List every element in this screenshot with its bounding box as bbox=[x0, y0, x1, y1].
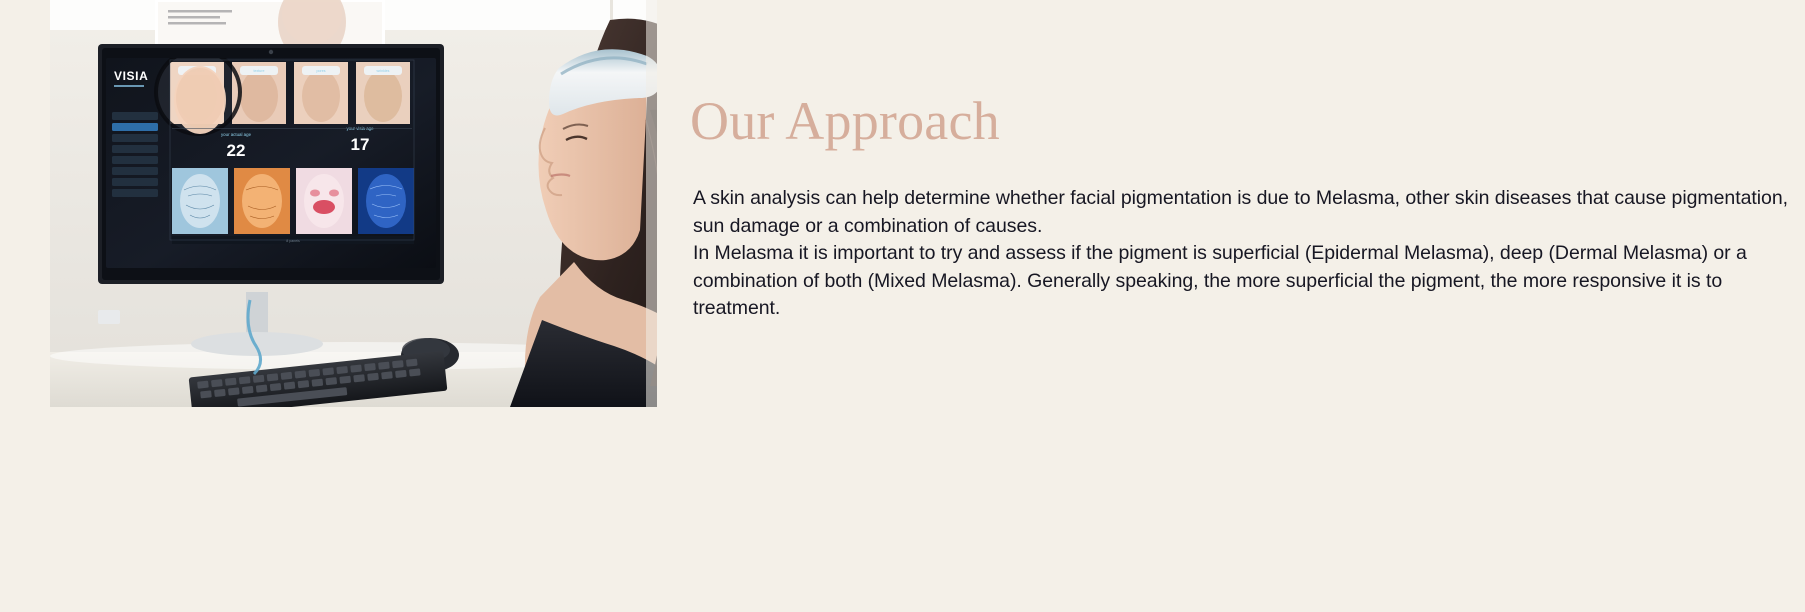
page-root: VISIA face fr bbox=[0, 0, 1805, 612]
svg-text:VISIA: VISIA bbox=[114, 69, 148, 83]
svg-text:22: 22 bbox=[227, 141, 246, 160]
svg-text:8 panels: 8 panels bbox=[286, 239, 300, 243]
approach-paragraph-1: A skin analysis can help determine wheth… bbox=[693, 185, 1793, 240]
svg-text:your actual age: your actual age bbox=[221, 132, 252, 137]
approach-text-column: Our Approach A skin analysis can help de… bbox=[690, 0, 1800, 612]
approach-paragraph-2: In Melasma it is important to try and as… bbox=[693, 240, 1793, 323]
approach-photo: VISIA face fr bbox=[50, 0, 657, 407]
svg-text:17: 17 bbox=[351, 135, 370, 154]
approach-body-copy: A skin analysis can help determine wheth… bbox=[693, 185, 1793, 323]
page-title: Our Approach bbox=[690, 92, 1000, 150]
clinic-photo-illustration: VISIA face fr bbox=[50, 0, 657, 407]
svg-text:wrinkles: wrinkles bbox=[377, 69, 390, 73]
svg-text:pores: pores bbox=[317, 69, 326, 73]
svg-text:texture: texture bbox=[254, 69, 265, 73]
